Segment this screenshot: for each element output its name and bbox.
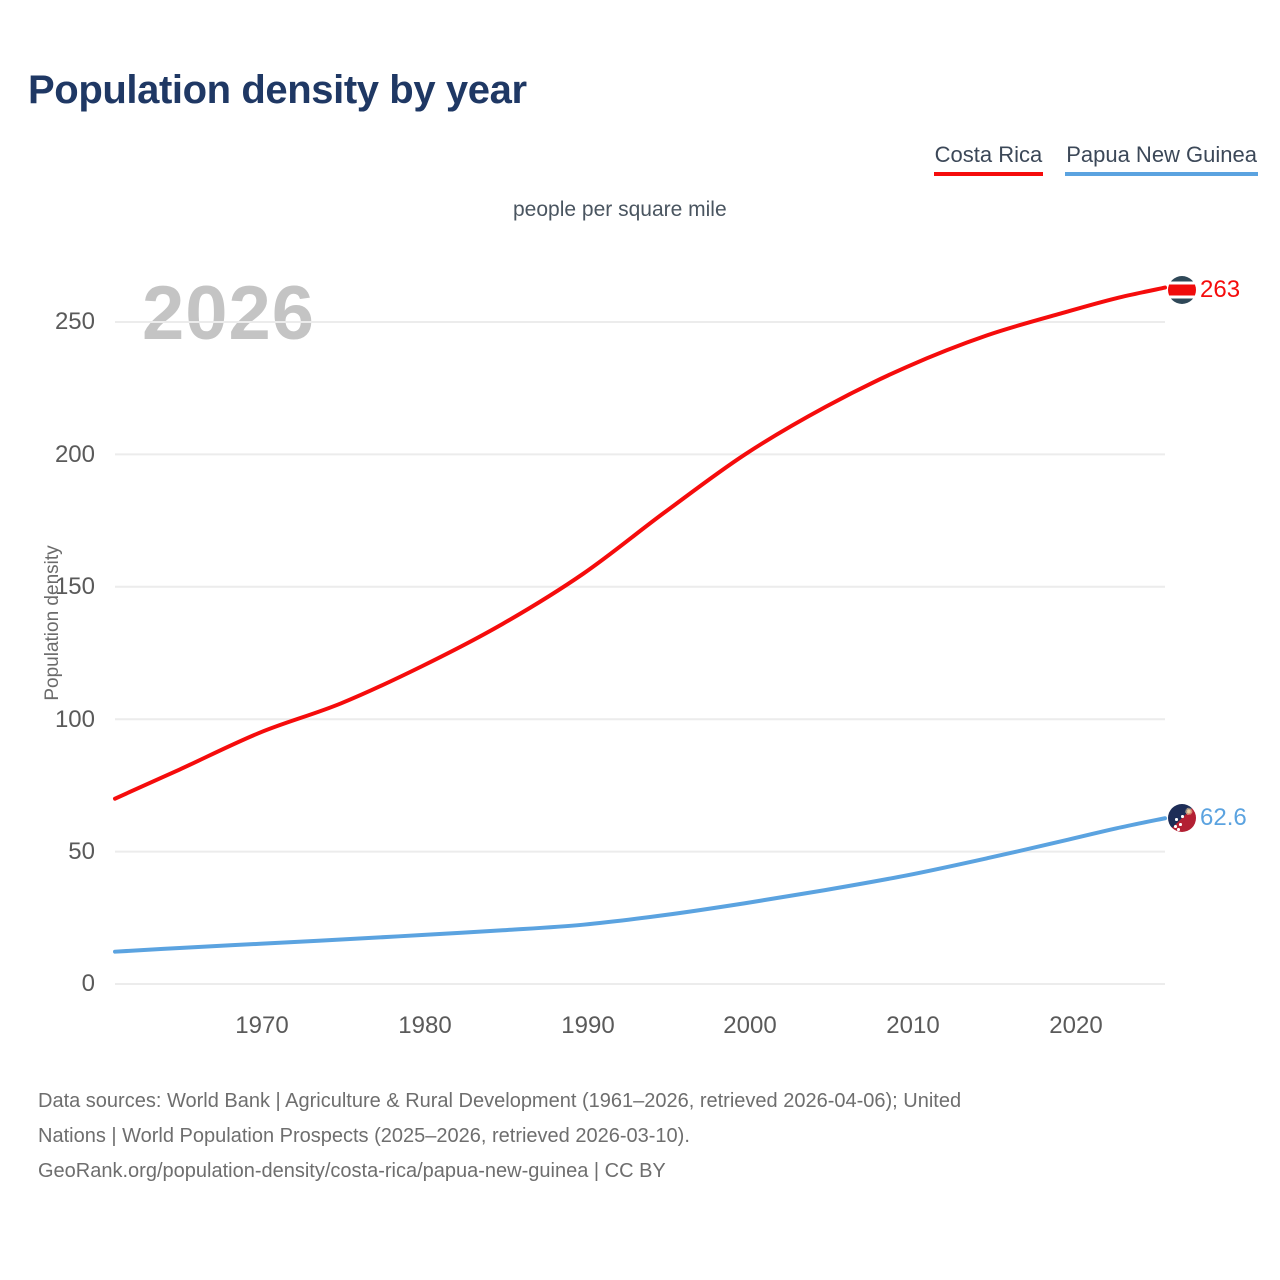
series-line-papua-new-guinea — [115, 818, 1165, 951]
series-line-costa-rica — [115, 288, 1165, 799]
plot-canvas — [0, 0, 1280, 1060]
endpoint-value-costa-rica: 263 — [1200, 278, 1240, 302]
chart-page: Population density by year Costa Rica Pa… — [0, 0, 1280, 1280]
bird-of-paradise-icon: ✺ — [1185, 808, 1193, 818]
footer-line-1: Data sources: World Bank | Agriculture &… — [38, 1084, 1258, 1119]
costa-rica-flag-icon — [1168, 276, 1196, 304]
papua-new-guinea-flag-icon: ✺ — [1168, 804, 1196, 832]
footer-line-2: Nations | World Population Prospects (20… — [38, 1119, 1258, 1154]
endpoint-papua-new-guinea[interactable]: ✺ 62.6 — [1168, 804, 1247, 832]
endpoint-costa-rica[interactable]: 263 — [1168, 276, 1240, 304]
footer-line-3: GeoRank.org/population-density/costa-ric… — [38, 1154, 1258, 1189]
endpoint-value-papua-new-guinea: 62.6 — [1200, 806, 1247, 830]
gridlines — [115, 322, 1165, 984]
footer-sources: Data sources: World Bank | Agriculture &… — [38, 1084, 1258, 1189]
plot-area: 2026 Population density 250 200 150 100 … — [0, 0, 1280, 1060]
